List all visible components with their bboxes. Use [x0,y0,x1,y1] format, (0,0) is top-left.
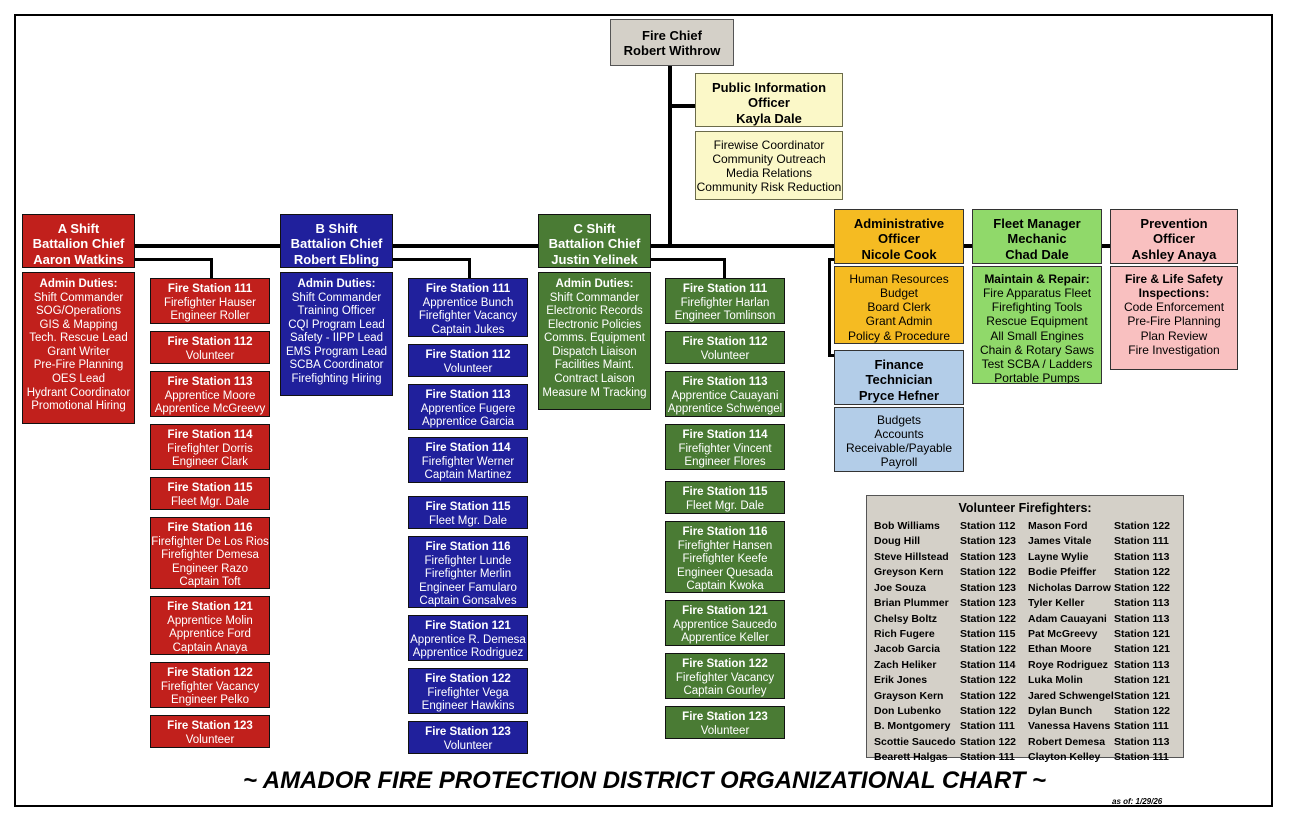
a-shift-line2: Battalion Chief [23,236,134,251]
a-shift-admin-title: Admin Duties: [23,278,134,292]
c-station-113[interactable]: Fire Station 113 Apprentice Cauayani App… [665,371,785,417]
volunteer-row: Nicholas DarrowStation 122 [1028,581,1176,596]
station-name: Fire Station 116 [666,526,784,540]
volunteer-station: Station 123 [960,581,1022,596]
a-shift-admin-duties-box[interactable]: Admin Duties: Shift Commander SOG/Operat… [22,272,135,424]
volunteer-station: Station 111 [1114,534,1176,549]
a-shift-admin-item: GIS & Mapping [23,319,134,333]
c-shift-admin-item: Contract Laison [539,373,650,387]
fleet-duty: Test SCBA / Ladders [973,357,1101,371]
volunteer-firefighters-panel: Volunteer Firefighters: Bob WilliamsStat… [866,495,1184,758]
volunteer-name: Robert Demesa [1028,735,1114,750]
station-staff: Firefighter Dorris [151,443,269,457]
a-shift-admin-item: SOG/Operations [23,305,134,319]
prevention-name: Ashley Anaya [1111,247,1237,262]
station-name: Fire Station 112 [409,349,527,363]
station-staff: Apprentice Keller [666,632,784,646]
c-shift-admin-item: Electronic Records [539,305,650,319]
org-chart-page: Fire Chief Robert Withrow Public Informa… [0,0,1289,823]
a-station-113[interactable]: Fire Station 113 Apprentice Moore Appren… [150,371,270,417]
volunteer-station: Station 122 [1114,565,1176,580]
prevention-duty: Fire Investigation [1111,343,1237,357]
station-staff: Volunteer [409,363,527,377]
volunteer-station: Station 113 [1114,658,1176,673]
fleet-duty: Firefighting Tools [973,300,1101,314]
a-station-111[interactable]: Fire Station 111 Firefighter Hauser Engi… [150,278,270,324]
volunteer-station: Station 121 [1114,673,1176,688]
volunteer-table-title: Volunteer Firefighters: [867,496,1183,515]
prevention-duty: Pre-Fire Planning [1111,314,1237,328]
finance-duty: Payroll [835,455,963,469]
volunteer-station: Station 111 [1114,750,1176,765]
volunteer-station: Station 122 [960,704,1022,719]
c-shift-line1: C Shift [539,221,650,236]
b-shift-admin-item: SCBA Coordinator [281,359,392,373]
volunteer-station: Station 121 [1114,627,1176,642]
b-station-114[interactable]: Fire Station 114 Firefighter Werner Capt… [408,437,528,483]
finance-duty: Accounts [835,427,963,441]
station-name: Fire Station 121 [666,605,784,619]
c-shift-admin-item: Electronic Policies [539,319,650,333]
station-name: Fire Station 123 [409,726,527,740]
admin-duty: Policy & Procedure [835,329,963,343]
volunteer-station: Station 111 [1114,719,1176,734]
station-staff: Firefighter Vacancy [409,310,527,324]
volunteer-row: James VitaleStation 111 [1028,534,1176,549]
prevention-line1: Prevention [1111,216,1237,231]
volunteer-row: Layne WylieStation 113 [1028,550,1176,565]
station-staff: Firefighter Werner [409,456,527,470]
prevention-duty: Plan Review [1111,329,1237,343]
b-shift-admin-item: Shift Commander [281,292,392,306]
station-name: Fire Station 111 [666,283,784,297]
fire-chief-name: Robert Withrow [611,43,733,58]
station-name: Fire Station 121 [409,620,527,634]
a-shift-admin-item: Shift Commander [23,292,134,306]
volunteer-row: Vanessa HavensStation 111 [1028,719,1176,734]
volunteer-name: Chelsy Boltz [874,612,960,627]
b-station-116[interactable]: Fire Station 116 Firefighter Lunde Firef… [408,536,528,608]
volunteer-row: Robert DemesaStation 113 [1028,735,1176,750]
a-station-114[interactable]: Fire Station 114 Firefighter Dorris Engi… [150,424,270,470]
station-name: Fire Station 113 [409,389,527,403]
a-station-116[interactable]: Fire Station 116 Firefighter De Los Rios… [150,517,270,589]
station-staff: Engineer Clark [151,456,269,470]
a-shift-admin-item: Grant Writer [23,346,134,360]
station-name: Fire Station 115 [151,482,269,496]
volunteer-name: Bob Williams [874,519,960,534]
station-name: Fire Station 111 [151,283,269,297]
station-name: Fire Station 123 [666,711,784,725]
volunteer-station: Station 122 [960,612,1022,627]
station-staff: Firefighter Vacancy [666,672,784,686]
b-station-113[interactable]: Fire Station 113 Apprentice Fugere Appre… [408,384,528,430]
b-shift-admin-item: EMS Program Lead [281,346,392,360]
volunteer-row: Steve HillsteadStation 123 [874,550,1022,565]
volunteer-row: Mason FordStation 122 [1028,519,1176,534]
connector-c-shift-drop [650,258,726,261]
volunteer-row: Grayson KernStation 122 [874,689,1022,704]
station-name: Fire Station 122 [666,658,784,672]
volunteer-name: Jacob Garcia [874,642,960,657]
chart-footer-title: ~ AMADOR FIRE PROTECTION DISTRICT ORGANI… [0,767,1289,795]
chart-as-of-date: as of: 1/29/26 [1112,797,1232,806]
volunteer-name: Adam Cauayani [1028,612,1114,627]
b-shift-admin-duties-box[interactable]: Admin Duties: Shift Commander Training O… [280,272,393,396]
station-name: Fire Station 113 [666,376,784,390]
volunteer-station: Station 122 [960,689,1022,704]
connector-pio-horizontal [668,104,696,108]
volunteer-name: Erik Jones [874,673,960,688]
fleet-line2: Mechanic [973,231,1101,246]
station-staff: Captain Martinez [409,469,527,483]
station-staff: Captain Gonsalves [409,595,527,608]
volunteer-row: Dylan BunchStation 122 [1028,704,1176,719]
volunteer-station: Station 122 [1114,704,1176,719]
station-staff: Engineer Tomlinson [666,310,784,324]
station-staff: Firefighter Vega [409,687,527,701]
fire-chief-title: Fire Chief [611,28,733,43]
station-staff: Apprentice R. Demesa [409,634,527,648]
c-shift-admin-duties-box[interactable]: Admin Duties: Shift Commander Electronic… [538,272,651,410]
volunteer-name: Clayton Kelley [1028,750,1114,765]
volunteer-row: Joe SouzaStation 123 [874,581,1022,596]
volunteer-name: Nicholas Darrow [1028,581,1114,596]
volunteer-station: Station 122 [1114,581,1176,596]
station-staff: Firefighter Lunde [409,555,527,569]
volunteer-row: Doug HillStation 123 [874,534,1022,549]
c-station-122[interactable]: Fire Station 122 Firefighter Vacancy Cap… [665,653,785,699]
volunteer-name: Ethan Moore [1028,642,1114,657]
volunteer-name: Bodie Pfeiffer [1028,565,1114,580]
station-staff: Apprentice Moore [151,390,269,404]
volunteer-station: Station 122 [960,735,1022,750]
station-staff: Firefighter Demesa [151,549,269,563]
station-staff: Apprentice Bunch [409,297,527,311]
volunteer-row: Roye RodriguezStation 113 [1028,658,1176,673]
finance-duty: Budgets [835,413,963,427]
volunteer-row: Tyler KellerStation 113 [1028,596,1176,611]
a-shift-header-box[interactable]: A Shift Battalion Chief Aaron Watkins [22,214,135,268]
pio-duties-box[interactable]: Firewise Coordinator Community Outreach … [695,131,843,200]
station-staff: Engineer Pelko [151,694,269,708]
b-station-111[interactable]: Fire Station 111 Apprentice Bunch Firefi… [408,278,528,337]
station-staff: Apprentice Saucedo [666,619,784,633]
fleet-duty: Rescue Equipment [973,314,1101,328]
pio-name: Kayla Dale [696,111,842,126]
fleet-duty: Chain & Rotary Saws [973,343,1101,357]
volunteer-station: Station 122 [960,565,1022,580]
station-staff: Firefighter De Los Rios [151,536,269,550]
station-name: Fire Station 116 [151,522,269,536]
finance-duty: Receivable/Payable [835,441,963,455]
volunteer-station: Station 122 [1114,519,1176,534]
volunteer-station: Station 113 [1114,596,1176,611]
c-shift-line3: Justin Yelinek [539,252,650,267]
station-staff: Firefighter Keefe [666,553,784,567]
station-staff: Fleet Mgr. Dale [151,496,269,510]
volunteer-name: Don Lubenko [874,704,960,719]
administrative-officer-box[interactable]: Administrative Officer Nicole Cook [834,209,964,264]
station-staff: Engineer Razo [151,563,269,577]
station-staff: Captain Jukes [409,324,527,337]
volunteer-column-right: Mason FordStation 122James VitaleStation… [1028,519,1176,766]
a-shift-line1: A Shift [23,221,134,236]
volunteer-station: Station 122 [960,642,1022,657]
admin-officer-line2: Officer [835,231,963,246]
station-staff: Apprentice Cauayani [666,390,784,404]
volunteer-name: Joe Souza [874,581,960,596]
station-staff: Engineer Roller [151,310,269,324]
volunteer-name: Jared Schwengel [1028,689,1114,704]
c-shift-admin-item: Facilities Maint. [539,359,650,373]
volunteer-row: Bob WilliamsStation 112 [874,519,1022,534]
fleet-name: Chad Dale [973,247,1101,262]
b-station-115[interactable]: Fire Station 115 Fleet Mgr. Dale [408,496,528,529]
station-staff: Captain Anaya [151,642,269,655]
prevention-duties-title-line2: Inspections: [1111,286,1237,300]
a-station-122[interactable]: Fire Station 122 Firefighter Vacancy Eng… [150,662,270,708]
volunteer-row: Don LubenkoStation 122 [874,704,1022,719]
station-name: Fire Station 115 [409,501,527,515]
finance-duties-box[interactable]: Budgets Accounts Receivable/Payable Payr… [834,407,964,472]
station-staff: Engineer Flores [666,456,784,470]
finance-name: Pryce Hefner [835,388,963,403]
station-name: Fire Station 122 [151,667,269,681]
volunteer-station: Station 113 [1114,735,1176,750]
volunteer-name: Mason Ford [1028,519,1114,534]
volunteer-name: Vanessa Havens [1028,719,1114,734]
station-staff: Firefighter Hauser [151,297,269,311]
volunteer-row: Erik JonesStation 122 [874,673,1022,688]
connector-a-shift-drop [135,258,213,261]
station-staff: Captain Gourley [666,685,784,699]
station-staff: Volunteer [151,350,269,364]
c-shift-admin-title: Admin Duties: [539,278,650,292]
connector-chief-vertical [668,66,672,248]
station-staff: Fleet Mgr. Dale [666,500,784,514]
volunteer-row: B. MontgomeryStation 111 [874,719,1022,734]
station-staff: Firefighter Harlan [666,297,784,311]
station-staff: Apprentice Schwengel [666,403,784,417]
fire-chief-box[interactable]: Fire Chief Robert Withrow [610,19,734,66]
prevention-officer-box[interactable]: Prevention Officer Ashley Anaya [1110,209,1238,264]
station-staff: Volunteer [409,740,527,754]
station-staff: Firefighter Vacancy [151,681,269,695]
station-staff: Apprentice McGreevy [151,403,269,417]
prevention-line2: Officer [1111,231,1237,246]
admin-duty: Grant Admin [835,314,963,328]
station-staff: Apprentice Ford [151,628,269,642]
volunteer-row: Clayton KelleyStation 111 [1028,750,1176,765]
admin-officer-name: Nicole Cook [835,247,963,262]
a-station-121[interactable]: Fire Station 121 Apprentice Molin Appren… [150,596,270,655]
station-staff: Apprentice Molin [151,615,269,629]
connector-finance-vertical [828,258,831,356]
volunteer-row: Luka MolinStation 121 [1028,673,1176,688]
station-staff: Engineer Quesada [666,567,784,581]
volunteer-name: Steve Hillstead [874,550,960,565]
c-shift-admin-item: Measure M Tracking [539,387,650,401]
b-shift-line2: Battalion Chief [281,236,392,251]
volunteer-station: Station 111 [960,750,1022,765]
a-shift-admin-item: Promotional Hiring [23,400,134,414]
prevention-duty: Code Enforcement [1111,300,1237,314]
c-station-112[interactable]: Fire Station 112 Volunteer [665,331,785,364]
c-shift-admin-item: Comms. Equipment [539,332,650,346]
volunteer-name: Scottie Saucedo [874,735,960,750]
b-shift-admin-item: Firefighting Hiring [281,373,392,387]
volunteer-row: Greyson KernStation 122 [874,565,1022,580]
c-station-114[interactable]: Fire Station 114 Firefighter Vincent Eng… [665,424,785,470]
b-station-122[interactable]: Fire Station 122 Firefighter Vega Engine… [408,668,528,714]
public-information-officer-box[interactable]: Public Information Officer Kayla Dale [695,73,843,127]
station-name: Fire Station 123 [151,720,269,734]
station-staff: Captain Kwoka [666,580,784,593]
fleet-manager-box[interactable]: Fleet Manager Mechanic Chad Dale [972,209,1102,264]
a-shift-admin-item: Tech. Rescue Lead [23,332,134,346]
b-station-121[interactable]: Fire Station 121 Apprentice R. Demesa Ap… [408,615,528,661]
fleet-duty: All Small Engines [973,329,1101,343]
c-shift-header-box[interactable]: C Shift Battalion Chief Justin Yelinek [538,214,651,268]
volunteer-row: Jared SchwengelStation 121 [1028,689,1176,704]
c-shift-line2: Battalion Chief [539,236,650,251]
volunteer-station: Station 115 [960,627,1022,642]
station-staff: Apprentice Rodriguez [409,647,527,661]
admin-duty: Budget [835,286,963,300]
fleet-line1: Fleet Manager [973,216,1101,231]
station-staff: Volunteer [666,725,784,739]
admin-duty: Human Resources [835,272,963,286]
finance-line2: Technician [835,372,963,387]
volunteer-row: Scottie SaucedoStation 122 [874,735,1022,750]
b-shift-admin-title: Admin Duties: [281,278,392,292]
c-shift-admin-item: Shift Commander [539,292,650,306]
volunteer-name: Pat McGreevy [1028,627,1114,642]
admin-duty: Board Clerk [835,300,963,314]
station-name: Fire Station 111 [409,283,527,297]
station-name: Fire Station 122 [409,673,527,687]
volunteer-name: Grayson Kern [874,689,960,704]
volunteer-name: Layne Wylie [1028,550,1114,565]
volunteer-station: Station 123 [960,596,1022,611]
station-name: Fire Station 112 [666,336,784,350]
pio-title-line2: Officer [696,95,842,110]
fleet-duty: Fire Apparatus Fleet [973,286,1101,300]
volunteer-row: Chelsy BoltzStation 122 [874,612,1022,627]
station-name: Fire Station 112 [151,336,269,350]
b-shift-admin-item: CQI Program Lead [281,319,392,333]
a-station-112[interactable]: Fire Station 112 Volunteer [150,331,270,364]
b-shift-line3: Robert Ebling [281,252,392,267]
station-staff: Volunteer [151,734,269,748]
volunteer-row: Bearett HalgasStation 111 [874,750,1022,765]
fleet-duties-title: Maintain & Repair: [973,272,1101,286]
station-name: Fire Station 114 [666,429,784,443]
station-staff: Engineer Famularo [409,582,527,596]
station-staff: Apprentice Fugere [409,403,527,417]
a-shift-admin-item: Hydrant Coordinator [23,387,134,401]
station-staff: Fleet Mgr. Dale [409,515,527,529]
station-staff: Captain Toft [151,576,269,589]
volunteer-name: Roye Rodriguez [1028,658,1114,673]
c-shift-admin-item: Dispatch Liaison [539,346,650,360]
volunteer-station: Station 122 [960,673,1022,688]
b-station-123[interactable]: Fire Station 123 Volunteer [408,721,528,754]
volunteer-name: Doug Hill [874,534,960,549]
station-staff: Engineer Hawkins [409,700,527,714]
fleet-duty: Portable Pumps [973,371,1101,384]
a-shift-admin-item: OES Lead [23,373,134,387]
prevention-duties-title-line1: Fire & Life Safety [1111,272,1237,286]
volunteer-row: Pat McGreevyStation 121 [1028,627,1176,642]
station-staff: Firefighter Merlin [409,568,527,582]
fleet-duties-box[interactable]: Maintain & Repair: Fire Apparatus Fleet … [972,266,1102,384]
connector-b-shift-drop [393,258,471,261]
c-station-115[interactable]: Fire Station 115 Fleet Mgr. Dale [665,481,785,514]
volunteer-row: Bodie PfeifferStation 122 [1028,565,1176,580]
a-station-123[interactable]: Fire Station 123 Volunteer [150,715,270,748]
finance-technician-box[interactable]: Finance Technician Pryce Hefner [834,350,964,405]
station-staff: Firefighter Vincent [666,443,784,457]
volunteer-station: Station 123 [960,534,1022,549]
volunteer-name: Tyler Keller [1028,596,1114,611]
volunteer-name: Luka Molin [1028,673,1114,688]
administrative-duties-box[interactable]: Human Resources Budget Board Clerk Grant… [834,266,964,344]
volunteer-row: Adam CauayaniStation 113 [1028,612,1176,627]
prevention-duties-box[interactable]: Fire & Life Safety Inspections: Code Enf… [1110,266,1238,370]
a-shift-admin-item: Pre-Fire Planning [23,359,134,373]
volunteer-row: Rich FugereStation 115 [874,627,1022,642]
volunteer-station: Station 113 [1114,612,1176,627]
pio-duty: Community Risk Reduction [696,180,842,194]
c-station-123[interactable]: Fire Station 123 Volunteer [665,706,785,739]
b-shift-admin-item: Training Officer [281,305,392,319]
pio-title-line1: Public Information [696,80,842,95]
volunteer-name: Zach Heliker [874,658,960,673]
b-station-112[interactable]: Fire Station 112 Volunteer [408,344,528,377]
a-shift-line3: Aaron Watkins [23,252,134,267]
pio-duty: Media Relations [696,166,842,180]
volunteer-station: Station 114 [960,658,1022,673]
b-shift-header-box[interactable]: B Shift Battalion Chief Robert Ebling [280,214,393,268]
volunteer-row: Jacob GarciaStation 122 [874,642,1022,657]
volunteer-name: Greyson Kern [874,565,960,580]
volunteer-column-left: Bob WilliamsStation 112Doug HillStation … [874,519,1022,766]
station-staff: Apprentice Garcia [409,416,527,430]
a-station-115[interactable]: Fire Station 115 Fleet Mgr. Dale [150,477,270,510]
volunteer-station: Station 112 [960,519,1022,534]
b-shift-admin-item: Safety - IIPP Lead [281,332,392,346]
station-name: Fire Station 116 [409,541,527,555]
volunteer-name: Dylan Bunch [1028,704,1114,719]
volunteer-name: Bearett Halgas [874,750,960,765]
pio-duty: Community Outreach [696,152,842,166]
c-station-111[interactable]: Fire Station 111 Firefighter Harlan Engi… [665,278,785,324]
station-name: Fire Station 114 [409,442,527,456]
volunteer-station: Station 111 [960,719,1022,734]
station-name: Fire Station 114 [151,429,269,443]
finance-line1: Finance [835,357,963,372]
c-station-121[interactable]: Fire Station 121 Apprentice Saucedo Appr… [665,600,785,646]
volunteer-name: Brian Plummer [874,596,960,611]
station-name: Fire Station 115 [666,486,784,500]
volunteer-row: Ethan MooreStation 121 [1028,642,1176,657]
station-name: Fire Station 121 [151,601,269,615]
c-station-116[interactable]: Fire Station 116 Firefighter Hansen Fire… [665,521,785,593]
pio-duty: Firewise Coordinator [696,138,842,152]
volunteer-name: B. Montgomery [874,719,960,734]
